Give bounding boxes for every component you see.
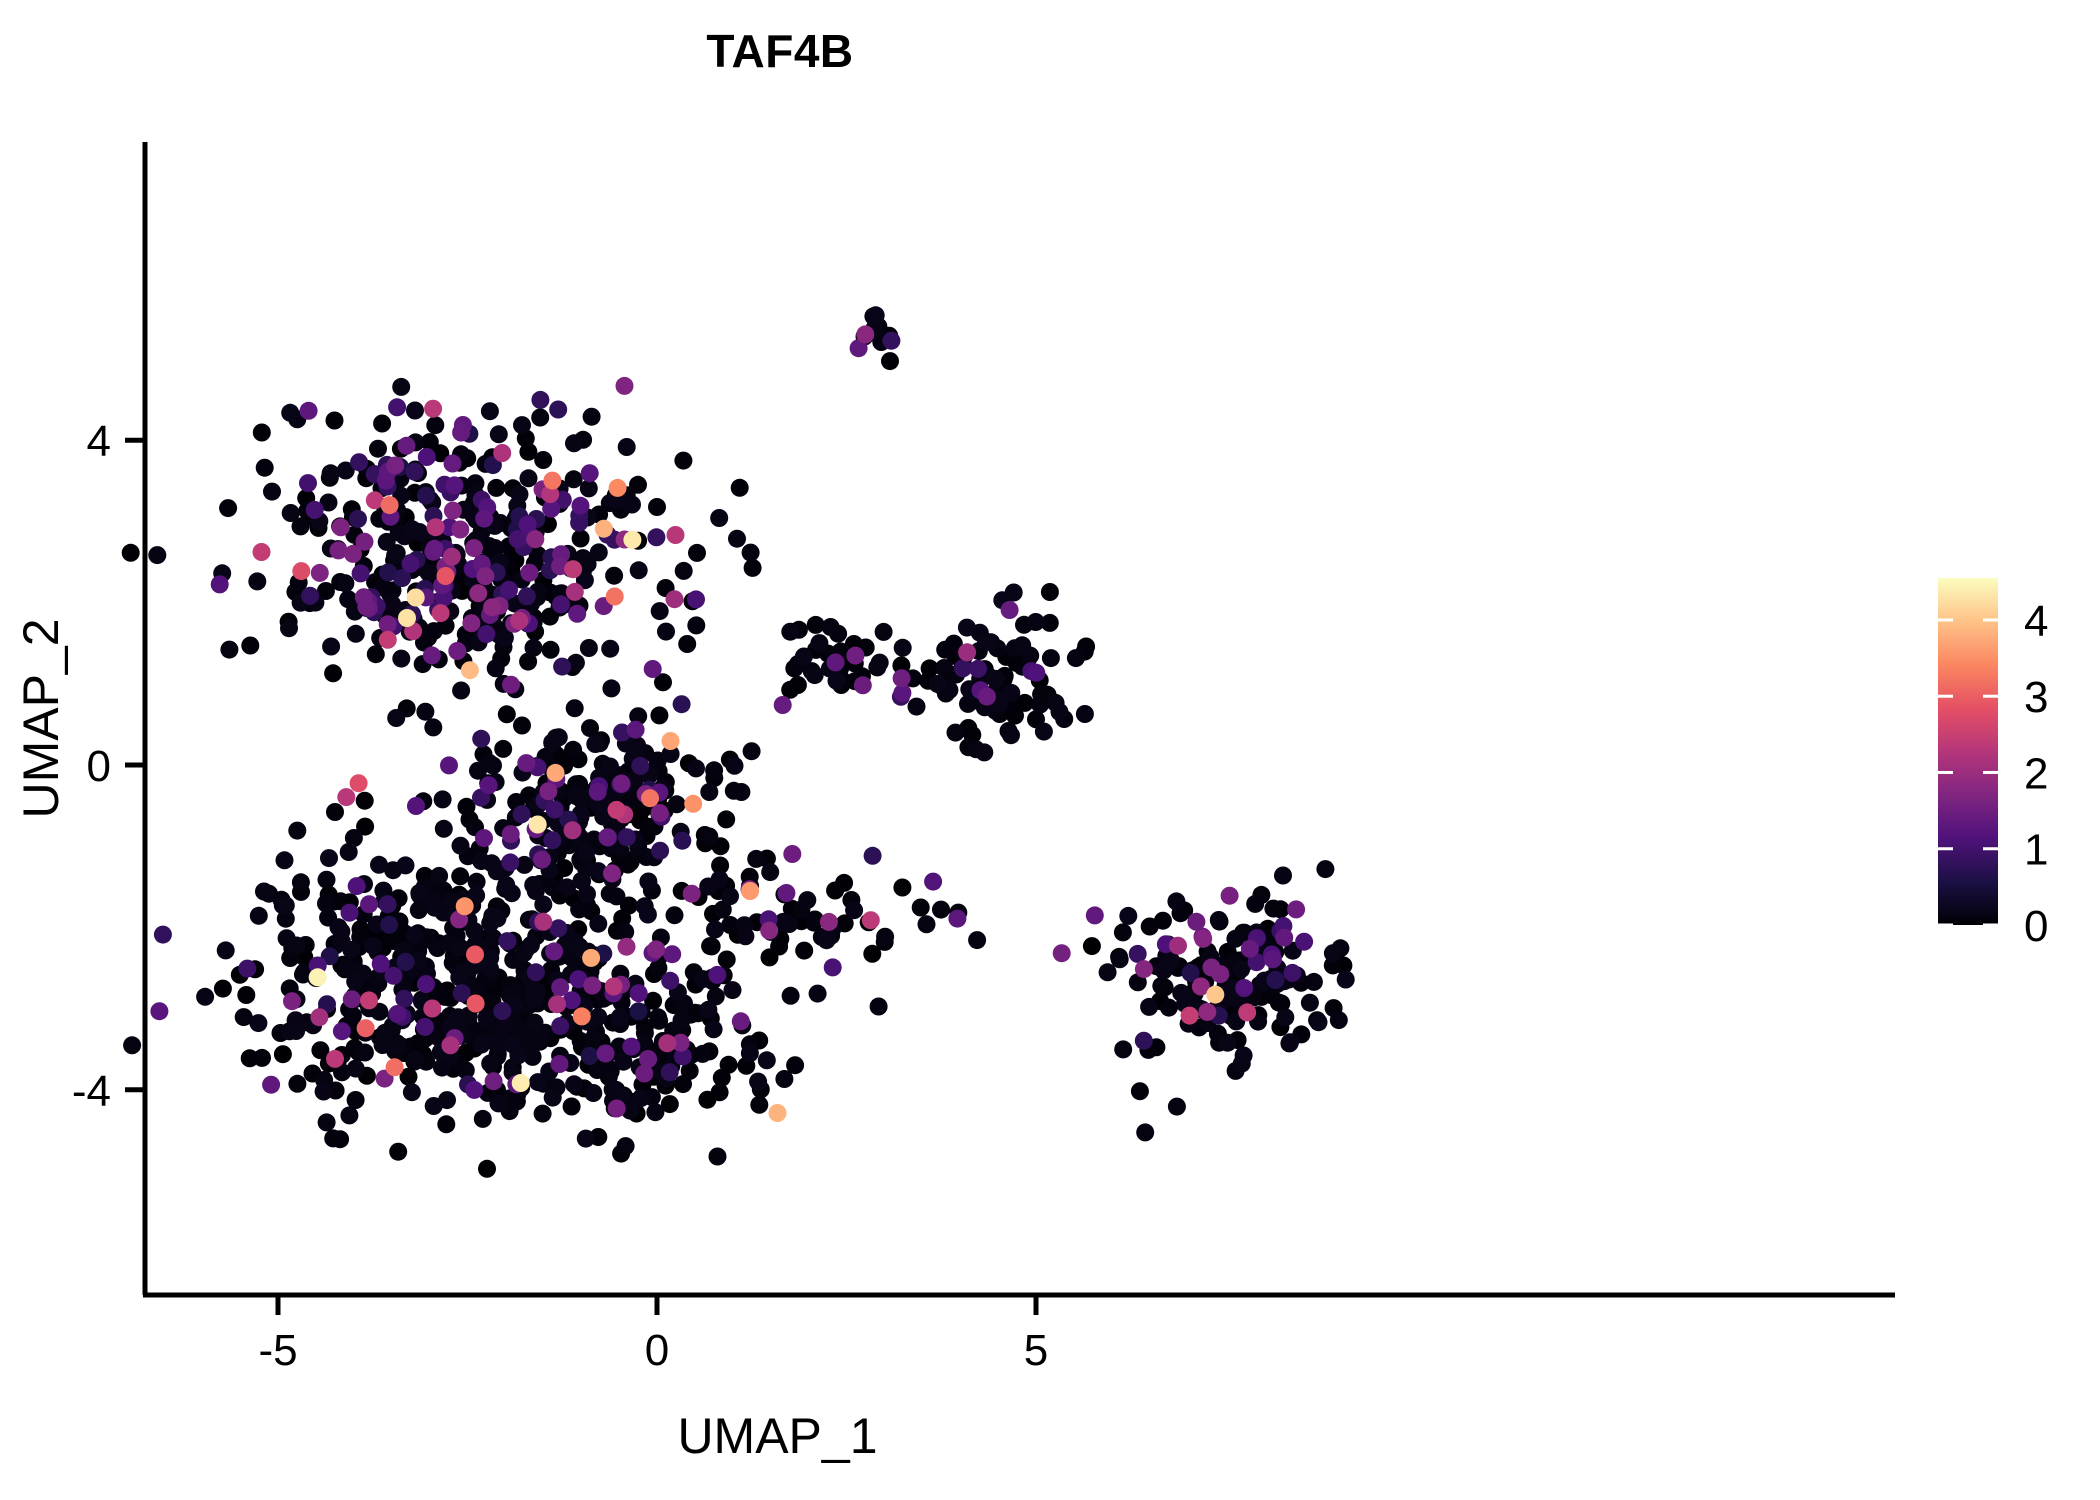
data-point	[154, 926, 172, 944]
data-point	[581, 464, 599, 482]
data-point	[306, 501, 324, 519]
data-point	[512, 1074, 530, 1092]
scatter-plot-canvas: -505 -404 UMAP_1 UMAP_2 01234	[0, 0, 2100, 1500]
data-point	[688, 544, 706, 562]
data-point	[502, 676, 520, 694]
data-point	[292, 873, 310, 891]
data-point	[975, 743, 993, 761]
data-points-layer	[122, 306, 1355, 1178]
data-point	[370, 856, 388, 874]
data-point	[551, 978, 569, 996]
data-point	[469, 762, 487, 780]
data-point	[510, 612, 528, 630]
data-point	[196, 988, 214, 1006]
data-point	[1053, 944, 1071, 962]
data-point	[570, 900, 588, 918]
data-point	[434, 790, 452, 808]
data-point	[533, 851, 551, 869]
data-point	[1002, 726, 1020, 744]
data-point	[373, 415, 391, 433]
data-point	[309, 968, 327, 986]
data-point	[531, 409, 549, 427]
data-point	[1198, 1003, 1216, 1021]
data-point	[651, 842, 669, 860]
data-point	[700, 783, 718, 801]
data-point	[502, 825, 520, 843]
data-point	[673, 1011, 691, 1029]
data-point	[407, 797, 425, 815]
data-point	[520, 564, 538, 582]
data-point	[526, 530, 544, 548]
data-point	[1295, 933, 1313, 951]
data-point	[465, 1081, 483, 1099]
data-point	[893, 669, 911, 687]
data-point	[918, 915, 936, 933]
data-point	[432, 604, 450, 622]
data-point	[622, 1038, 640, 1056]
data-point	[617, 1137, 635, 1155]
data-point	[452, 837, 470, 855]
data-point	[1232, 960, 1250, 978]
data-point	[1287, 900, 1305, 918]
data-point	[1210, 911, 1228, 929]
data-point	[451, 521, 469, 539]
data-point	[609, 479, 627, 497]
data-point	[589, 915, 607, 933]
data-point	[781, 623, 799, 641]
data-point	[369, 440, 387, 458]
data-point	[566, 699, 584, 717]
data-point	[381, 496, 399, 514]
colorbar-tick-label: 2	[2024, 749, 2048, 798]
data-point	[490, 1094, 508, 1112]
data-point	[480, 776, 498, 794]
data-point	[1141, 918, 1159, 936]
data-point	[443, 548, 461, 566]
data-point	[430, 867, 448, 885]
data-point	[1235, 1047, 1253, 1065]
data-point	[726, 757, 744, 775]
data-point	[864, 847, 882, 865]
data-point	[618, 828, 636, 846]
data-point	[333, 1022, 351, 1040]
data-point	[683, 885, 701, 903]
data-point	[410, 884, 428, 902]
data-point	[465, 922, 483, 940]
data-point	[932, 901, 950, 919]
data-point	[326, 803, 344, 821]
data-point	[567, 787, 585, 805]
data-point	[639, 906, 657, 924]
x-tick-label: 0	[645, 1326, 669, 1375]
data-point	[641, 789, 659, 807]
data-point	[148, 546, 166, 564]
data-point	[525, 639, 543, 657]
data-point	[826, 882, 844, 900]
data-point	[416, 1018, 434, 1036]
data-point	[882, 332, 900, 350]
data-point	[277, 896, 295, 914]
data-point	[608, 887, 626, 905]
data-point	[608, 801, 626, 819]
data-point	[397, 953, 415, 971]
data-point	[673, 695, 691, 713]
data-point	[311, 564, 329, 582]
data-point	[322, 638, 340, 656]
data-point	[616, 377, 634, 395]
data-point	[249, 1014, 267, 1032]
data-point	[584, 1084, 602, 1102]
data-point	[760, 922, 778, 940]
data-point	[1206, 986, 1224, 1004]
data-point	[701, 937, 719, 955]
data-point	[452, 424, 470, 442]
data-point	[341, 904, 359, 922]
data-point	[606, 588, 624, 606]
data-point	[1275, 929, 1293, 947]
data-point	[573, 1007, 591, 1025]
data-point	[356, 1044, 374, 1062]
data-point	[894, 639, 912, 657]
data-point	[577, 1130, 595, 1148]
data-point	[487, 479, 505, 497]
data-point	[337, 788, 355, 806]
data-point	[708, 966, 726, 984]
data-point	[318, 871, 336, 889]
colorbar-gradient	[1938, 578, 1998, 925]
data-point	[349, 510, 367, 528]
data-point	[552, 595, 570, 613]
data-point	[426, 416, 444, 434]
data-point	[589, 783, 607, 801]
y-tick-label: 4	[87, 417, 111, 466]
data-point	[517, 754, 535, 772]
data-point	[749, 1073, 767, 1091]
data-point	[444, 455, 462, 473]
data-point	[1051, 703, 1069, 721]
data-point	[581, 719, 599, 737]
data-point	[1067, 649, 1085, 667]
data-point	[1140, 998, 1158, 1016]
data-point	[818, 931, 836, 949]
data-point	[423, 1000, 441, 1018]
data-point	[481, 1055, 499, 1073]
data-point	[565, 434, 583, 452]
data-point	[673, 832, 691, 850]
data-point	[344, 545, 362, 563]
data-point	[809, 985, 827, 1003]
data-point	[1114, 1040, 1132, 1058]
data-point	[322, 464, 340, 482]
data-point	[347, 1091, 365, 1109]
data-point	[406, 1051, 424, 1069]
data-point	[378, 533, 396, 551]
data-point	[674, 452, 692, 470]
colorbar-legend: 01234	[1938, 578, 2048, 951]
data-point	[603, 864, 621, 882]
data-point	[326, 1050, 344, 1068]
data-point	[612, 775, 630, 793]
data-point	[969, 660, 987, 678]
data-point	[732, 783, 750, 801]
data-point	[1027, 613, 1045, 631]
data-point	[465, 539, 483, 557]
x-tick-label: -5	[258, 1326, 297, 1375]
data-point	[623, 531, 641, 549]
data-point	[461, 661, 479, 679]
data-point	[706, 921, 724, 939]
data-point	[551, 1055, 569, 1073]
data-point	[666, 906, 684, 924]
data-point	[528, 983, 546, 1001]
data-point	[639, 873, 657, 891]
data-point	[871, 654, 889, 672]
data-point	[1086, 906, 1104, 924]
data-point	[1131, 1082, 1149, 1100]
data-point	[288, 1075, 306, 1093]
data-point	[356, 792, 374, 810]
data-point	[386, 457, 404, 475]
data-point	[1235, 979, 1253, 997]
data-point	[548, 995, 566, 1013]
data-point	[318, 1113, 336, 1131]
data-point	[437, 567, 455, 585]
data-point	[566, 583, 584, 601]
data-point	[320, 849, 338, 867]
data-point	[663, 945, 681, 963]
data-point	[214, 980, 232, 998]
data-point	[747, 850, 765, 868]
data-point	[870, 998, 888, 1016]
data-point	[417, 975, 435, 993]
data-point	[651, 804, 669, 822]
data-point	[618, 938, 636, 956]
data-point	[658, 1034, 676, 1052]
data-point	[744, 559, 762, 577]
data-point	[539, 782, 557, 800]
data-point	[728, 530, 746, 548]
data-point	[253, 424, 271, 442]
data-point	[649, 1008, 667, 1026]
data-point	[564, 741, 582, 759]
data-point	[1027, 664, 1045, 682]
data-point	[646, 1103, 664, 1121]
data-point	[388, 398, 406, 416]
data-point	[372, 955, 390, 973]
data-point	[1264, 950, 1282, 968]
y-tick-label: -4	[72, 1067, 111, 1116]
data-point	[276, 851, 294, 869]
data-point	[342, 941, 360, 959]
data-point	[947, 724, 965, 742]
data-point	[1301, 994, 1319, 1012]
data-point	[472, 1036, 490, 1054]
data-point	[123, 1036, 141, 1054]
data-point	[589, 1008, 607, 1026]
data-point	[968, 931, 986, 949]
data-point	[1168, 1098, 1186, 1116]
data-point	[782, 987, 800, 1005]
data-point	[497, 876, 515, 894]
data-point	[310, 1008, 328, 1026]
data-point	[777, 884, 795, 902]
data-point	[456, 897, 474, 915]
data-point	[527, 963, 545, 981]
data-point	[687, 590, 705, 608]
data-point	[513, 717, 531, 735]
x-tick-label: 5	[1024, 1326, 1048, 1375]
data-point	[608, 1100, 626, 1118]
data-point	[1181, 1007, 1199, 1025]
colorbar-tick-label: 1	[2024, 826, 2048, 875]
data-point	[635, 1065, 653, 1083]
data-point	[300, 402, 318, 420]
data-point	[611, 1008, 629, 1026]
data-point	[678, 635, 696, 653]
data-point	[336, 574, 354, 592]
data-point	[348, 877, 366, 895]
data-point	[379, 615, 397, 633]
data-point	[605, 978, 623, 996]
data-point	[483, 598, 501, 616]
data-point	[350, 453, 368, 471]
data-point	[935, 659, 953, 677]
data-point	[978, 688, 996, 706]
data-point	[718, 951, 736, 969]
data-point	[1274, 867, 1292, 885]
data-point	[511, 485, 529, 503]
data-point	[657, 623, 675, 641]
data-point	[360, 991, 378, 1009]
data-point	[828, 672, 846, 690]
data-point	[534, 451, 552, 469]
data-point	[741, 882, 759, 900]
data-point	[810, 634, 828, 652]
y-axis-title: UMAP_2	[13, 618, 69, 818]
data-point	[217, 941, 235, 959]
data-point	[380, 916, 398, 934]
data-point	[483, 854, 501, 872]
data-point	[301, 587, 319, 605]
data-point	[406, 926, 424, 944]
data-point	[846, 647, 864, 665]
data-point	[417, 487, 435, 505]
data-point	[1241, 940, 1259, 958]
data-point	[577, 844, 595, 862]
data-point	[632, 1089, 650, 1107]
data-point	[478, 1009, 496, 1027]
data-point	[282, 504, 300, 522]
data-point	[724, 981, 742, 999]
data-point	[350, 774, 368, 792]
data-point	[392, 650, 410, 668]
data-point	[360, 895, 378, 913]
data-point	[425, 1097, 443, 1115]
data-point	[386, 1058, 404, 1076]
data-point	[1169, 937, 1187, 955]
data-point	[630, 984, 648, 1002]
data-point	[651, 602, 669, 620]
data-point	[1267, 971, 1285, 989]
data-point	[553, 658, 571, 676]
data-point	[494, 740, 512, 758]
data-point	[287, 1022, 305, 1040]
data-point	[856, 325, 874, 343]
data-point	[427, 518, 445, 536]
data-point	[263, 483, 281, 501]
data-point	[283, 992, 301, 1010]
data-point	[820, 913, 838, 931]
data-point	[256, 459, 274, 477]
data-point	[1316, 860, 1334, 878]
umap-feature-plot: TAF4B -505 -404 UMAP_1 UMAP_2	[0, 0, 2100, 1500]
data-point	[547, 764, 565, 782]
data-point	[347, 1060, 365, 1078]
data-point	[1283, 964, 1301, 982]
data-point	[908, 698, 926, 716]
data-point	[854, 676, 872, 694]
data-point	[862, 911, 880, 929]
x-axis-ticks: -505	[258, 1295, 1048, 1375]
data-point	[1152, 977, 1170, 995]
data-point	[1219, 1034, 1237, 1052]
data-point	[398, 437, 416, 455]
data-point	[462, 614, 480, 632]
data-point	[238, 960, 256, 978]
data-point	[518, 587, 536, 605]
data-point	[924, 873, 942, 891]
data-point	[875, 623, 893, 641]
data-point	[570, 514, 588, 532]
data-point	[469, 584, 487, 602]
data-point	[530, 1030, 548, 1048]
data-point	[627, 721, 645, 739]
data-point	[1276, 1008, 1294, 1026]
data-point	[1076, 705, 1094, 723]
data-point	[299, 474, 317, 492]
data-point	[424, 718, 442, 736]
data-point	[403, 1083, 421, 1101]
data-point	[958, 643, 976, 661]
data-point	[1281, 1033, 1299, 1051]
data-point	[710, 509, 728, 527]
data-point	[630, 561, 648, 579]
data-point	[661, 1063, 679, 1081]
data-point	[580, 639, 598, 657]
data-point	[598, 828, 616, 846]
data-point	[389, 1036, 407, 1054]
data-point	[347, 625, 365, 643]
data-point	[750, 1096, 768, 1114]
data-point	[332, 518, 350, 536]
data-point	[597, 1045, 615, 1063]
data-point	[824, 958, 842, 976]
data-point	[590, 543, 608, 561]
data-point	[253, 543, 271, 561]
data-point	[346, 973, 364, 991]
data-point	[684, 795, 702, 813]
data-point	[648, 498, 666, 516]
data-point	[1119, 907, 1137, 925]
data-point	[392, 378, 410, 396]
data-point	[424, 400, 442, 418]
data-point	[448, 642, 466, 660]
data-point	[476, 567, 494, 585]
data-point	[340, 1106, 358, 1124]
data-point	[769, 1104, 787, 1122]
data-point	[761, 863, 779, 881]
data-point	[732, 1012, 750, 1030]
